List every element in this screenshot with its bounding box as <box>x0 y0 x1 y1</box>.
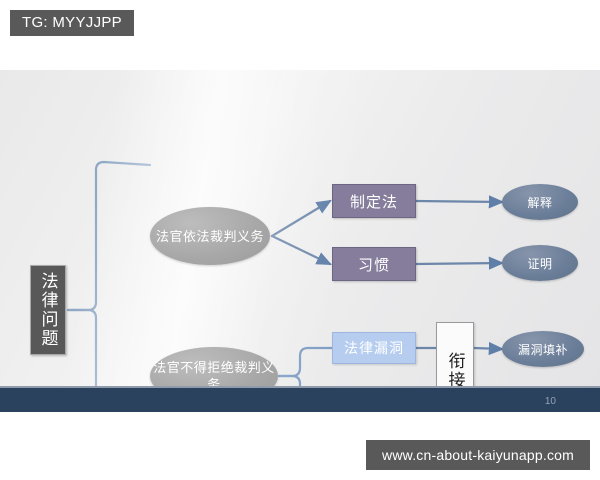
node-interpretation: 解释 <box>502 184 578 220</box>
node-proof: 证明 <box>502 245 578 281</box>
slide-page-number: 10 <box>545 397 556 407</box>
node-legal-loophole: 法律漏洞 <box>332 332 416 364</box>
telegram-watermark-tag: TG: MYYJJPP <box>10 10 134 36</box>
node-statutory-law: 制定法 <box>332 184 416 218</box>
node-gap-filling: 漏洞填补 <box>502 331 584 367</box>
connector-lines <box>0 70 600 412</box>
node-root-legal-problem: 法律问题 <box>30 265 66 355</box>
slide-footer-bar: 10 <box>0 388 600 412</box>
site-url-watermark: www.cn-about-kaiyunapp.com <box>366 440 590 470</box>
node-judge-duty-adjudicate: 法官依法裁判义务 <box>150 207 270 265</box>
node-custom: 习惯 <box>332 247 416 281</box>
presentation-slide: 法律问题 法官依法裁判义务 法官不得拒绝裁判义务 制定法 习惯 法律漏洞 法外空… <box>0 70 600 412</box>
